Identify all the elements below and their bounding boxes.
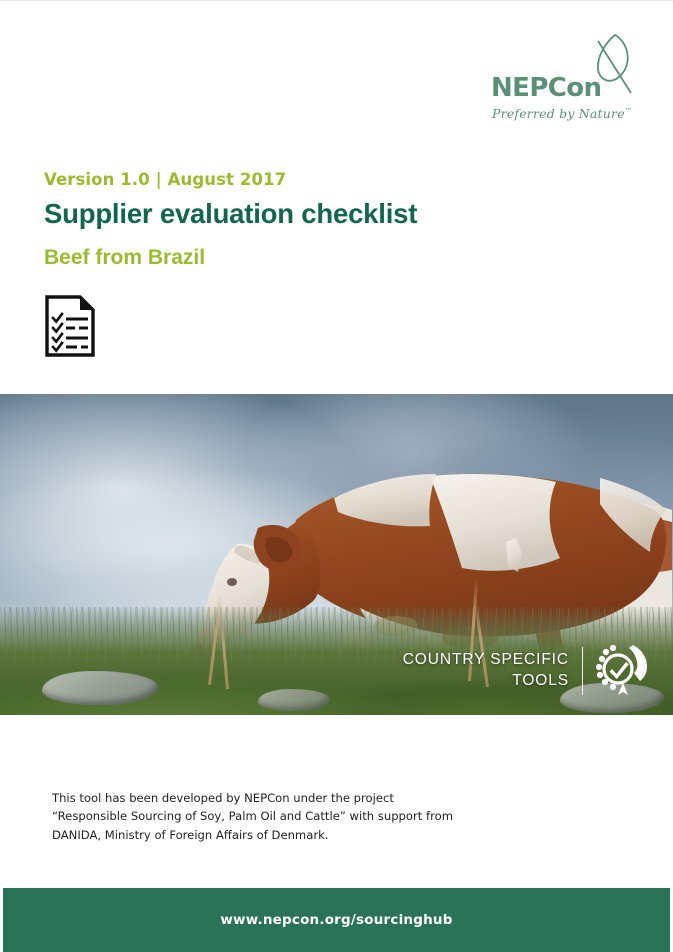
hero-caption: COUNTRY SPECIFIC TOOLS	[403, 649, 569, 692]
rock	[258, 689, 330, 711]
rock	[42, 671, 158, 705]
cover-page: NEPCon Preferred by Nature™ Version 1.0 …	[0, 0, 673, 952]
disclaimer-text: This tool has been developed by NEPCon u…	[52, 789, 472, 845]
title-block: Version 1.0 | August 2017 Supplier evalu…	[44, 171, 604, 270]
country-specific-tools-emblem	[593, 639, 655, 701]
logo-tagline: Preferred by Nature™	[492, 106, 632, 121]
version-line: Version 1.0 | August 2017	[44, 171, 604, 189]
logo-tagline-text: Preferred by Nature	[492, 106, 625, 121]
logo-wordmark: NEPCon	[491, 75, 601, 101]
caption-divider	[582, 647, 583, 695]
hero-caption-line-2: TOOLS	[403, 670, 569, 691]
page-subtitle: Beef from Brazil	[44, 246, 604, 270]
footer-bar: www.nepcon.org/sourcinghub	[3, 888, 670, 952]
page-title: Supplier evaluation checklist	[44, 198, 604, 230]
hero-photo	[0, 394, 673, 715]
checklist-document-icon	[44, 295, 96, 357]
footer-url[interactable]: www.nepcon.org/sourcinghub	[220, 912, 452, 928]
grass-blades	[0, 607, 673, 661]
hero-caption-line-1: COUNTRY SPECIFIC	[403, 649, 569, 670]
trademark-symbol: ™	[625, 107, 632, 115]
